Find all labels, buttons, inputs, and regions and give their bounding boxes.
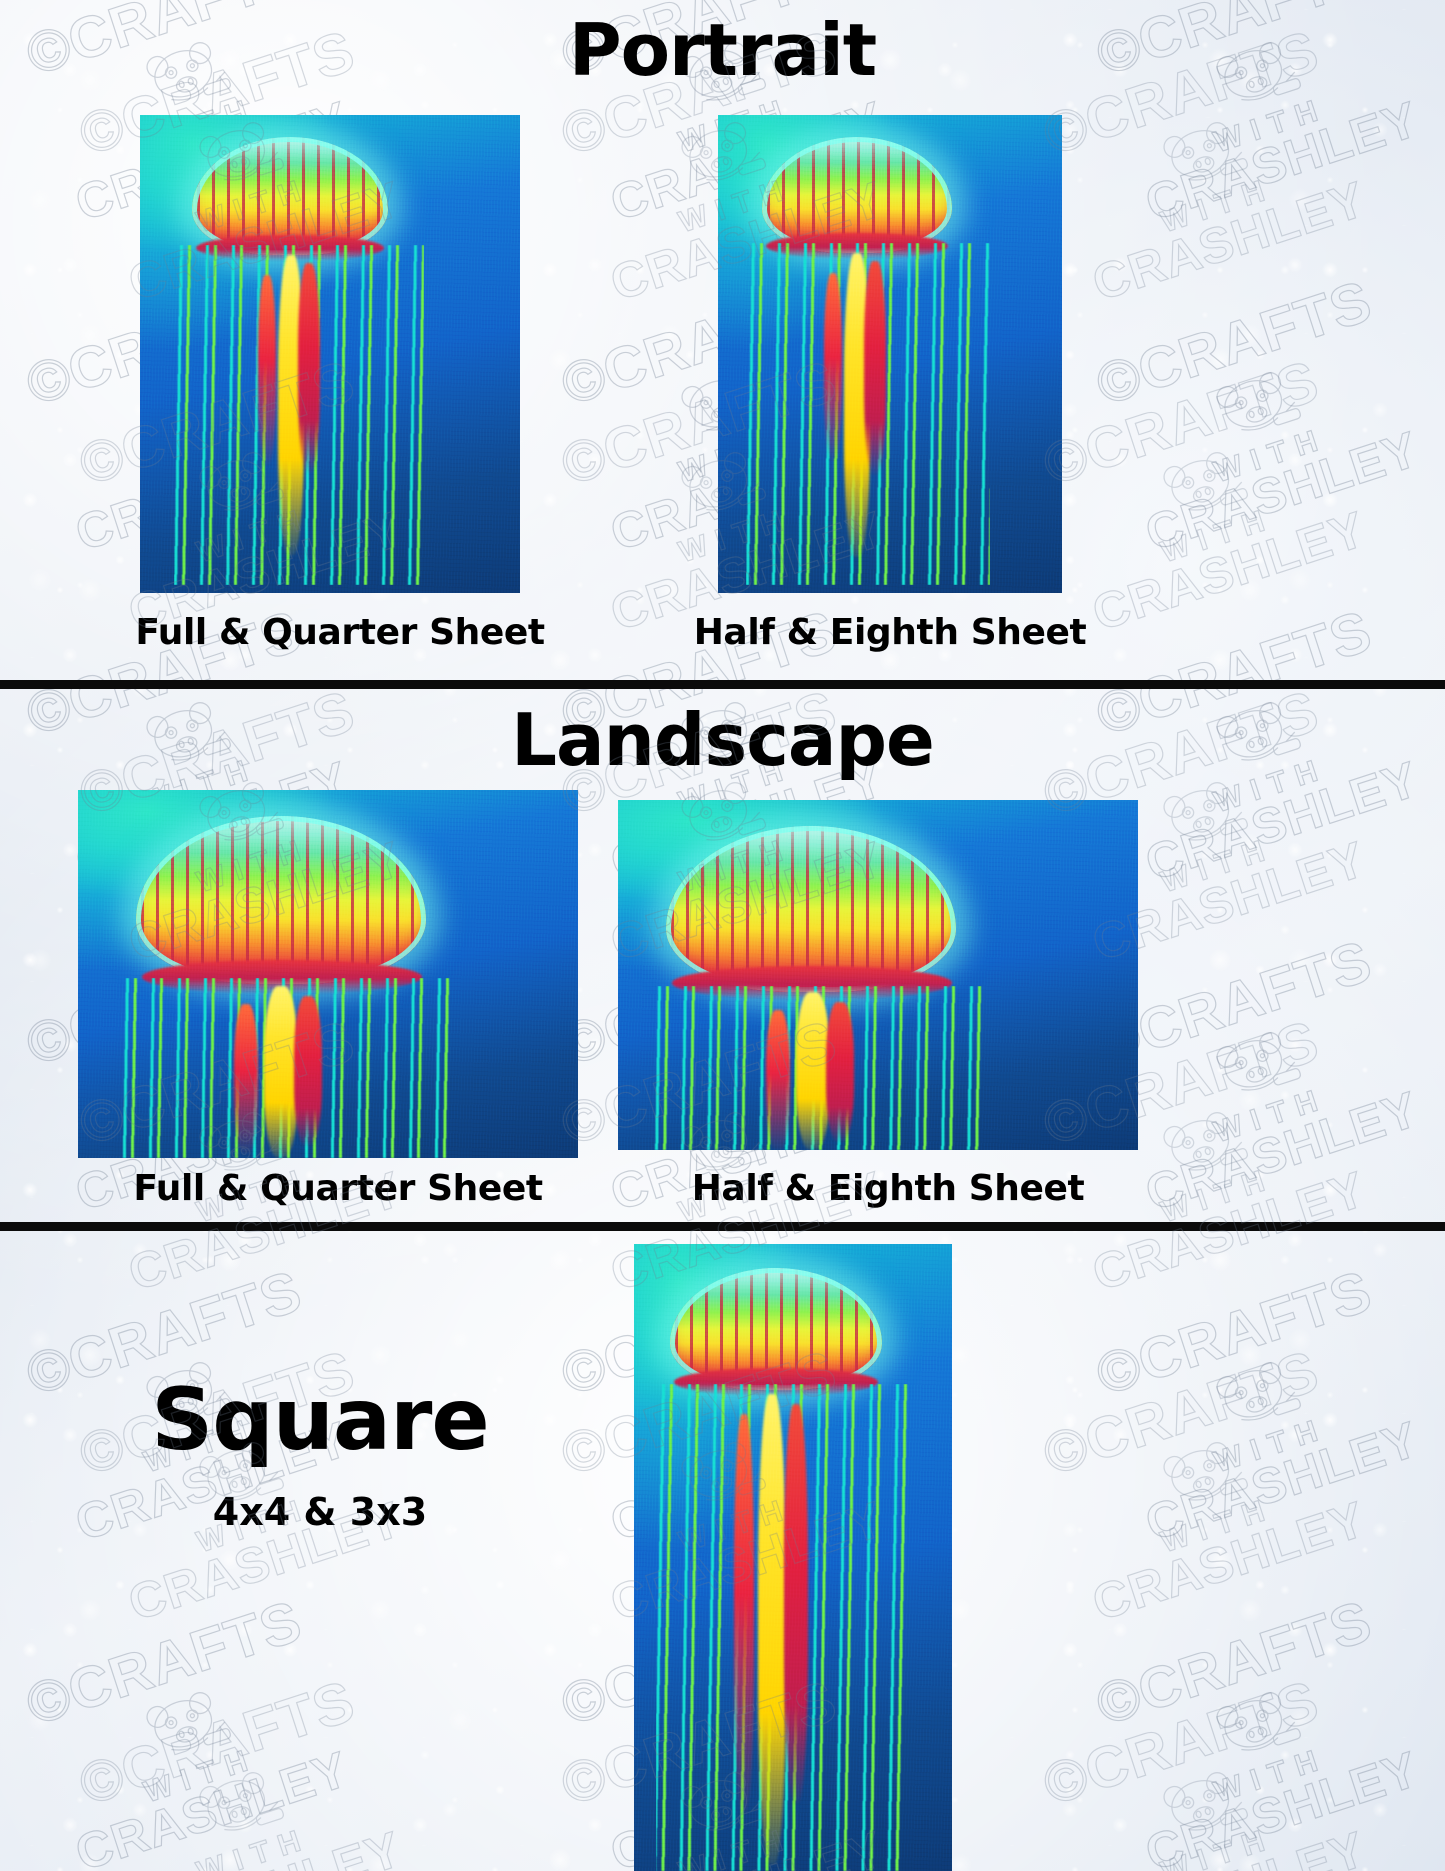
jellyfish-bell [670, 1268, 882, 1390]
jellyfish-core-red-b [258, 275, 276, 465]
jellyfish-bell [192, 137, 388, 255]
watermark-line-with: WITH [1131, 1718, 1411, 1832]
watermark-line-crashley: CRASHLEY [1086, 175, 1371, 307]
bear-doodle-icon [1145, 1757, 1257, 1849]
watermark-line-with: WITH [1131, 398, 1411, 512]
watermark-line-with: WITH [1078, 1798, 1358, 1871]
bear-doodle-icon [1145, 107, 1257, 199]
jellyfish-core-red-b [824, 273, 842, 461]
watermark-line-with: WITH [1131, 1388, 1411, 1502]
bear-doodle-icon [1198, 357, 1310, 449]
watermark-line-crafts: ©CRAFTS [1037, 1674, 1324, 1813]
jellyfish-bell [762, 137, 952, 253]
watermark-tile: ©CRAFTSWITHCRASHLEY [1090, 1594, 1424, 1871]
section-title-landscape: Landscape [0, 692, 1445, 782]
bear-doodle-icon [128, 1677, 240, 1769]
jellyfish-tentacles [656, 1384, 908, 1871]
bear-doodle-icon [1198, 1677, 1310, 1769]
watermark-line-crafts: ©CRAFTS [1037, 1344, 1324, 1483]
watermark-line-with: WITH [114, 1798, 394, 1871]
watermark-line-crafts: ©CRAFTS [74, 1674, 361, 1813]
jellyfish-bell-rim [766, 233, 948, 259]
jellyfish-artwork [618, 800, 1138, 1150]
watermark-tile: ©CRAFTSWITHCRASHLEY [1090, 1264, 1424, 1547]
section-subtitle-square: 4x4 & 3x3 [60, 1490, 580, 1534]
watermark-line-crashley: CRASHLEY [1086, 1825, 1371, 1871]
watermark-line-crashley: CRASHLEY [123, 1825, 408, 1871]
watermark-tile: ©CRAFTSWITHCRASHLEY [1037, 1674, 1371, 1871]
divider-landscape-square [0, 1222, 1445, 1231]
jellyfish-artwork [140, 115, 520, 593]
divider-portrait-landscape [0, 680, 1445, 689]
watermark-tile: ©CRAFTSWITHCRASHLEY [1090, 274, 1424, 557]
watermark-tile: ©CRAFTSWITHCRASHLEY [1037, 354, 1371, 637]
section-title-square: Square [60, 1370, 580, 1470]
product-listing-image: ©CRAFTSWITHCRASHLEY©CRAFTSWITHCRASHLEY©C… [0, 0, 1445, 1871]
caption-portrait-full-quarter: Full & Quarter Sheet [60, 612, 620, 653]
watermark-line-with: WITH [1131, 1058, 1411, 1172]
watermark-tile: ©CRAFTSWITHCRASHLEY [74, 1674, 408, 1871]
jellyfish-core-yellow [278, 255, 304, 555]
watermark-line-crafts: ©CRAFTS [1037, 354, 1324, 493]
watermark-tile: ©CRAFTSWITHCRASHLEY [1037, 1344, 1371, 1627]
artwork-landscape-half-eighth[interactable] [618, 800, 1138, 1150]
bear-doodle-icon [181, 1757, 293, 1849]
watermark-line-with: WITH [61, 1718, 341, 1832]
jellyfish-artwork [718, 115, 1062, 593]
jellyfish-core-yellow [796, 992, 830, 1150]
artwork-portrait-half-eighth[interactable] [718, 115, 1062, 593]
artwork-square-4x4-3x3[interactable] [634, 1244, 952, 1871]
jellyfish-tentacles [652, 986, 982, 1150]
artwork-landscape-full-quarter[interactable] [78, 790, 578, 1158]
jellyfish-bell [136, 816, 426, 984]
jellyfish-tentacles [120, 978, 450, 1158]
caption-landscape-half-eighth: Half & Eighth Sheet [608, 1168, 1168, 1209]
jellyfish-core-yellow [844, 253, 870, 557]
watermark-line-crashley: CRASHLEY [1139, 425, 1424, 557]
caption-portrait-half-eighth: Half & Eighth Sheet [610, 612, 1170, 653]
jellyfish-bell-rim [196, 235, 384, 261]
jellyfish-artwork [634, 1244, 952, 1871]
watermark-line-with: WITH [1078, 478, 1358, 592]
watermark-line-with: WITH [1078, 1468, 1358, 1582]
section-title-portrait: Portrait [0, 0, 1445, 92]
jellyfish-bell-rim [142, 960, 422, 994]
jellyfish-bell [666, 826, 956, 992]
watermark-line-crafts: ©CRAFTS [1090, 1594, 1377, 1733]
jellyfish-core-red [294, 996, 322, 1146]
jellyfish-core-red-b [766, 1010, 790, 1150]
caption-landscape-full-quarter: Full & Quarter Sheet [58, 1168, 618, 1209]
jellyfish-core-yellow [758, 1394, 786, 1864]
jellyfish-core-red-b [734, 1414, 754, 1814]
jellyfish-bell-rim [672, 966, 952, 1000]
bear-doodle-icon [1198, 1347, 1310, 1439]
watermark-line-crashley: CRASHLEY [1139, 1085, 1424, 1217]
jellyfish-core-red-b [234, 1004, 258, 1154]
jellyfish-core-red [826, 1002, 854, 1142]
jellyfish-core-yellow [264, 986, 298, 1158]
watermark-line-crashley: CRASHLEY [1086, 1495, 1371, 1627]
jellyfish-core-red [784, 1404, 808, 1804]
watermark-line-crafts: ©CRAFTS [20, 1594, 307, 1733]
jellyfish-bell-rim [674, 1368, 878, 1396]
watermark-line-crafts: ©CRAFTS [1090, 1264, 1377, 1403]
jellyfish-tentacles [746, 243, 990, 585]
jellyfish-core-red [864, 261, 886, 475]
jellyfish-artwork [78, 790, 578, 1158]
bear-doodle-icon [1198, 1017, 1310, 1109]
watermark-line-crashley: CRASHLEY [1139, 1415, 1424, 1547]
watermark-line-crashley: CRASHLEY [69, 1745, 354, 1871]
bear-doodle-icon [1145, 1427, 1257, 1519]
watermark-line-with: WITH [1078, 148, 1358, 262]
watermark-line-crashley: CRASHLEY [1139, 95, 1424, 227]
watermark-tile: ©CRAFTSWITHCRASHLEY [20, 1594, 354, 1871]
watermark-line-crashley: CRASHLEY [1139, 1745, 1424, 1871]
jellyfish-core-red [298, 263, 320, 473]
watermark-line-crafts: ©CRAFTS [1090, 274, 1377, 413]
artwork-portrait-full-quarter[interactable] [140, 115, 520, 593]
jellyfish-tentacles [174, 245, 424, 585]
bear-doodle-icon [1145, 437, 1257, 529]
